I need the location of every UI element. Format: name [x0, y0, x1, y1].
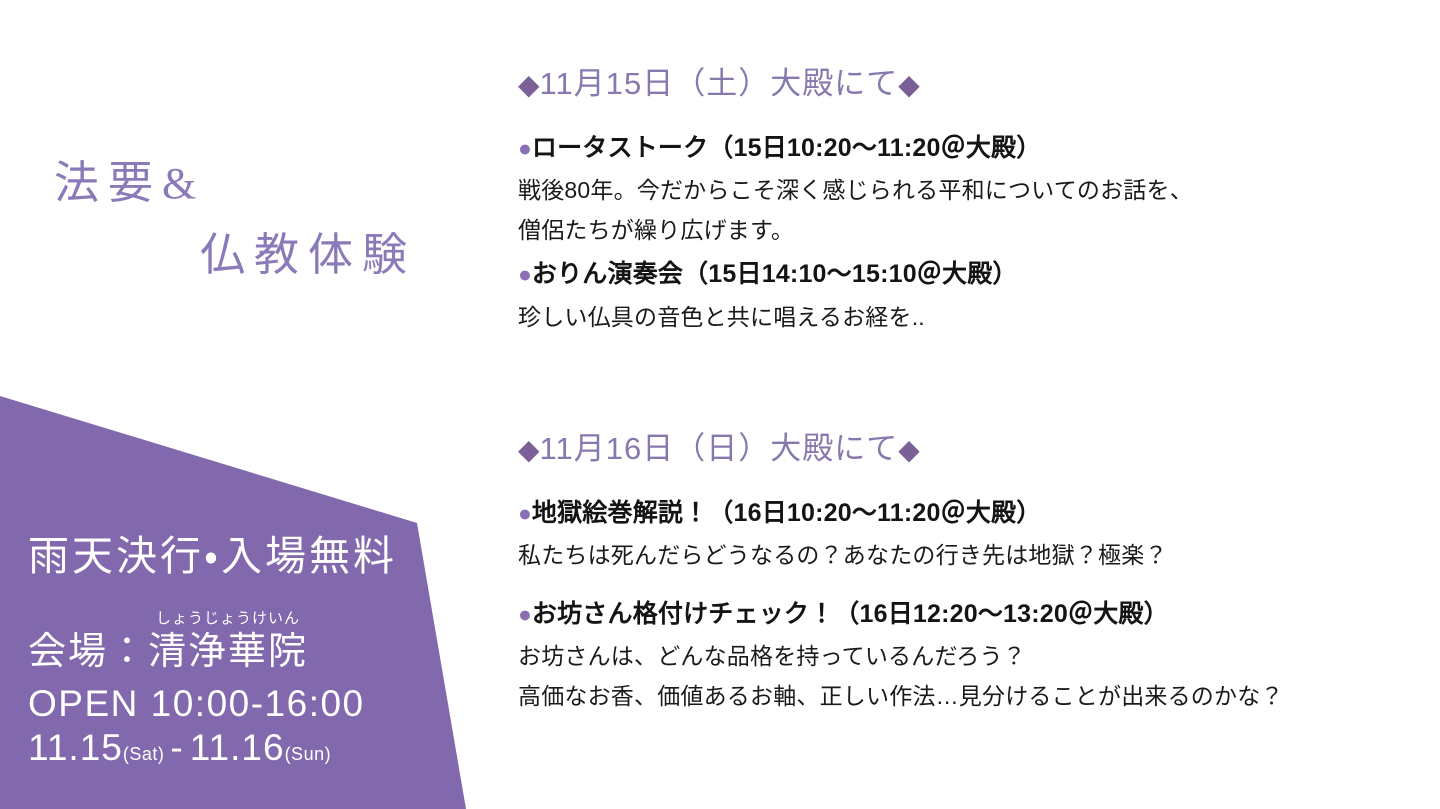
- section-heading-day2: ◆11月16日（日）大殿にて◆: [518, 433, 1428, 464]
- schedule-item: ●お坊さん格付けチェック！（16日12:20〜13:20＠大殿） お坊さんは、ど…: [518, 596, 1428, 716]
- date-start-dayofweek: (Sat): [123, 744, 165, 764]
- date-range-dash: -: [164, 727, 189, 768]
- open-hours-text: OPEN 10:00-16:00: [28, 685, 365, 722]
- schedule-item-title-text: おりん演奏会（15日14:10〜15:10＠大殿）: [532, 260, 1018, 288]
- schedule-item-description-line: お坊さんは、どんな品格を持っているんだろう？: [518, 637, 1428, 677]
- diamond-left-icon: ◆: [518, 69, 540, 100]
- date-end: 11.16: [190, 727, 285, 768]
- schedule-item-title: ●お坊さん格付けチェック！（16日12:20〜13:20＠大殿）: [518, 596, 1428, 632]
- free-admission-text: 雨天決行・入場無料: [28, 536, 397, 577]
- diamond-left-icon: ◆: [518, 434, 540, 465]
- schedule-item-title: ●おりん演奏会（15日14:10〜15:10＠大殿）: [518, 256, 1428, 292]
- schedule-item-title-text: 地獄絵巻解説！（16日10:20〜11:20＠大殿）: [532, 499, 1042, 527]
- date-end-dayofweek: (Sun): [285, 744, 332, 764]
- schedule-item: ●おりん演奏会（15日14:10〜15:10＠大殿） 珍しい仏具の音色と共に唱え…: [518, 256, 1428, 337]
- panel-text-group: 雨天決行・入場無料 会場：しょうじょうけいん清浄華院 OPEN 10:00-16…: [0, 0, 470, 809]
- schedule-item-description-line: 私たちは死んだらどうなるの？あなたの行き先は地獄？極楽？: [518, 536, 1428, 576]
- bullet-dot-icon: ●: [518, 500, 532, 526]
- diamond-right-icon: ◆: [898, 69, 920, 100]
- venue-name-with-ruby: しょうじょうけいん清浄華院: [148, 633, 308, 671]
- schedule-column: ◆11月15日（土）大殿にて◆ ●ロータストーク（15日10:20〜11:20＠…: [518, 0, 1428, 809]
- bullet-dot-icon: ●: [518, 261, 532, 287]
- section-heading-day1: ◆11月15日（土）大殿にて◆: [518, 68, 1428, 99]
- left-column: 法要& 仏教体験 雨天決行・入場無料 会場：しょうじょうけいん清浄華院 OPEN…: [0, 0, 490, 809]
- schedule-item-title-text: ロータストーク（15日10:20〜11:20＠大殿）: [532, 134, 1042, 162]
- venue-ruby-text: しょうじょうけいん: [156, 611, 300, 626]
- section-heading-day1-text: 11月15日（土）大殿にて: [540, 66, 899, 101]
- spacer: [518, 582, 1428, 596]
- schedule-item-description-line: 珍しい仏具の音色と共に唱えるお経を..: [518, 298, 1428, 338]
- section-heading-day2-text: 11月16日（日）大殿にて: [540, 431, 899, 466]
- venue-line: 会場：しょうじょうけいん清浄華院: [28, 633, 308, 671]
- venue-label: 会場：: [28, 631, 148, 673]
- schedule-item-description-line: 高価なお香、価値あるお軸、正しい作法…見分けることが出来るのかな？: [518, 677, 1428, 717]
- date-start: 11.15: [28, 727, 123, 768]
- schedule-section-day2: ◆11月16日（日）大殿にて◆ ●地獄絵巻解説！（16日10:20〜11:20＠…: [518, 433, 1428, 722]
- bullet-dot-icon: ●: [518, 601, 532, 627]
- schedule-section-day1: ◆11月15日（土）大殿にて◆ ●ロータストーク（15日10:20〜11:20＠…: [518, 68, 1428, 343]
- schedule-item-description-line: 戦後80年。今だからこそ深く感じられる平和についてのお話を、: [518, 171, 1428, 211]
- schedule-item-description-line: 僧侶たちが繰り広げます。: [518, 211, 1428, 251]
- venue-name: 清浄華院: [148, 631, 308, 673]
- schedule-item: ●ロータストーク（15日10:20〜11:20＠大殿） 戦後80年。今だからこそ…: [518, 130, 1428, 250]
- event-date-range: 11.15(Sat)-11.16(Sun): [28, 729, 331, 766]
- schedule-item-title: ●ロータストーク（15日10:20〜11:20＠大殿）: [518, 130, 1428, 166]
- schedule-item-title-text: お坊さん格付けチェック！（16日12:20〜13:20＠大殿）: [532, 600, 1169, 628]
- bullet-dot-icon: ●: [518, 135, 532, 161]
- diamond-right-icon: ◆: [898, 434, 920, 465]
- poster-canvas: 法要& 仏教体験 雨天決行・入場無料 会場：しょうじょうけいん清浄華院 OPEN…: [0, 0, 1440, 809]
- schedule-item-title: ●地獄絵巻解説！（16日10:20〜11:20＠大殿）: [518, 495, 1428, 531]
- schedule-item: ●地獄絵巻解説！（16日10:20〜11:20＠大殿） 私たちは死んだらどうなる…: [518, 495, 1428, 576]
